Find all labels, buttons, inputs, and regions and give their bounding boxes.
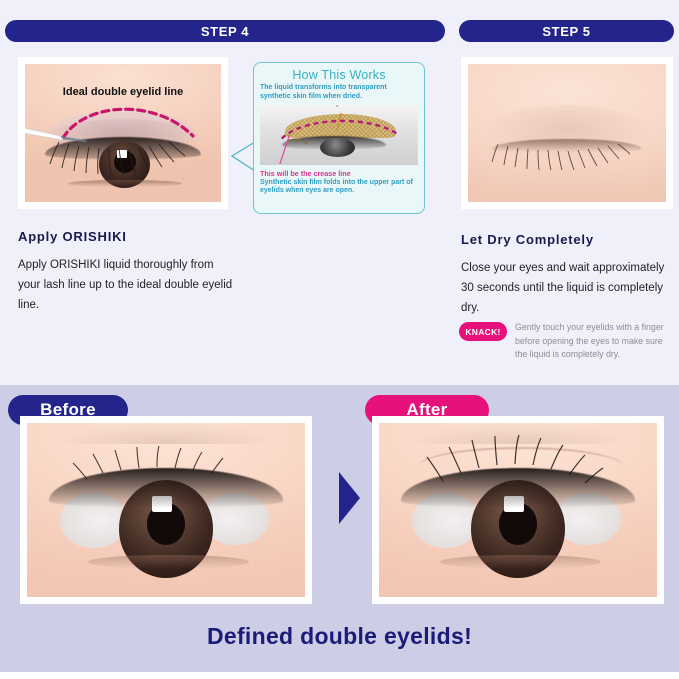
knack-badge-label: KNACK! (465, 327, 500, 337)
callout-crease-label: This will be the crease line (260, 169, 418, 178)
callout-title: How This Works (260, 68, 418, 82)
after-lashes (379, 423, 657, 597)
before-eye-photo (27, 423, 305, 597)
bottom-white-strip (0, 672, 679, 679)
after-eye-photo (379, 423, 657, 597)
callout-connector-icon (228, 140, 256, 174)
before-lashes (27, 423, 305, 597)
how-this-works-callout: How This Works The liquid transforms int… (253, 62, 425, 214)
result-caption: Defined double eyelids! (0, 623, 679, 650)
applicator-wand-icon (25, 125, 99, 146)
callout-leader-line (260, 105, 418, 107)
step-4-header-label: STEP 4 (201, 24, 249, 39)
photo-label-ideal-line: Ideal double eyelid line (63, 86, 183, 98)
instruction-page: STEP 4 STEP 5 (0, 0, 679, 679)
step-5-body: Close your eyes and wait approximately 3… (461, 259, 666, 318)
steps-section: STEP 4 STEP 5 (0, 0, 679, 385)
callout-subtitle: The liquid transforms into transparent s… (260, 84, 418, 102)
callout-annotation-lines (260, 105, 418, 164)
step-5-photo-frame (461, 57, 673, 209)
after-photo-frame (372, 416, 664, 604)
step-4-body: Apply ORISHIKI liquid thoroughly from yo… (18, 256, 233, 315)
closed-eye-lashes (468, 64, 666, 202)
step-5-closed-eye-photo (468, 64, 666, 202)
step-5-title: Let Dry Completely (461, 232, 594, 247)
step-4-photo-frame: Ideal double eyelid line (18, 57, 228, 209)
before-photo-frame (20, 416, 312, 604)
step-4-eye-photo: Ideal double eyelid line (25, 64, 221, 202)
step-4-header: STEP 4 (5, 20, 445, 42)
callout-diagram (260, 105, 418, 165)
knack-tip-text: Gently touch your eyelids with a finger … (515, 321, 674, 362)
step-4-title: Apply ORISHIKI (18, 229, 127, 244)
right-arrow-icon (336, 470, 362, 526)
knack-badge: KNACK! (459, 322, 507, 341)
step-5-header-label: STEP 5 (542, 24, 590, 39)
step-5-header: STEP 5 (459, 20, 674, 42)
callout-note: Synthetic skin film folds into the upper… (260, 179, 418, 197)
before-after-section: Before After (0, 385, 679, 672)
